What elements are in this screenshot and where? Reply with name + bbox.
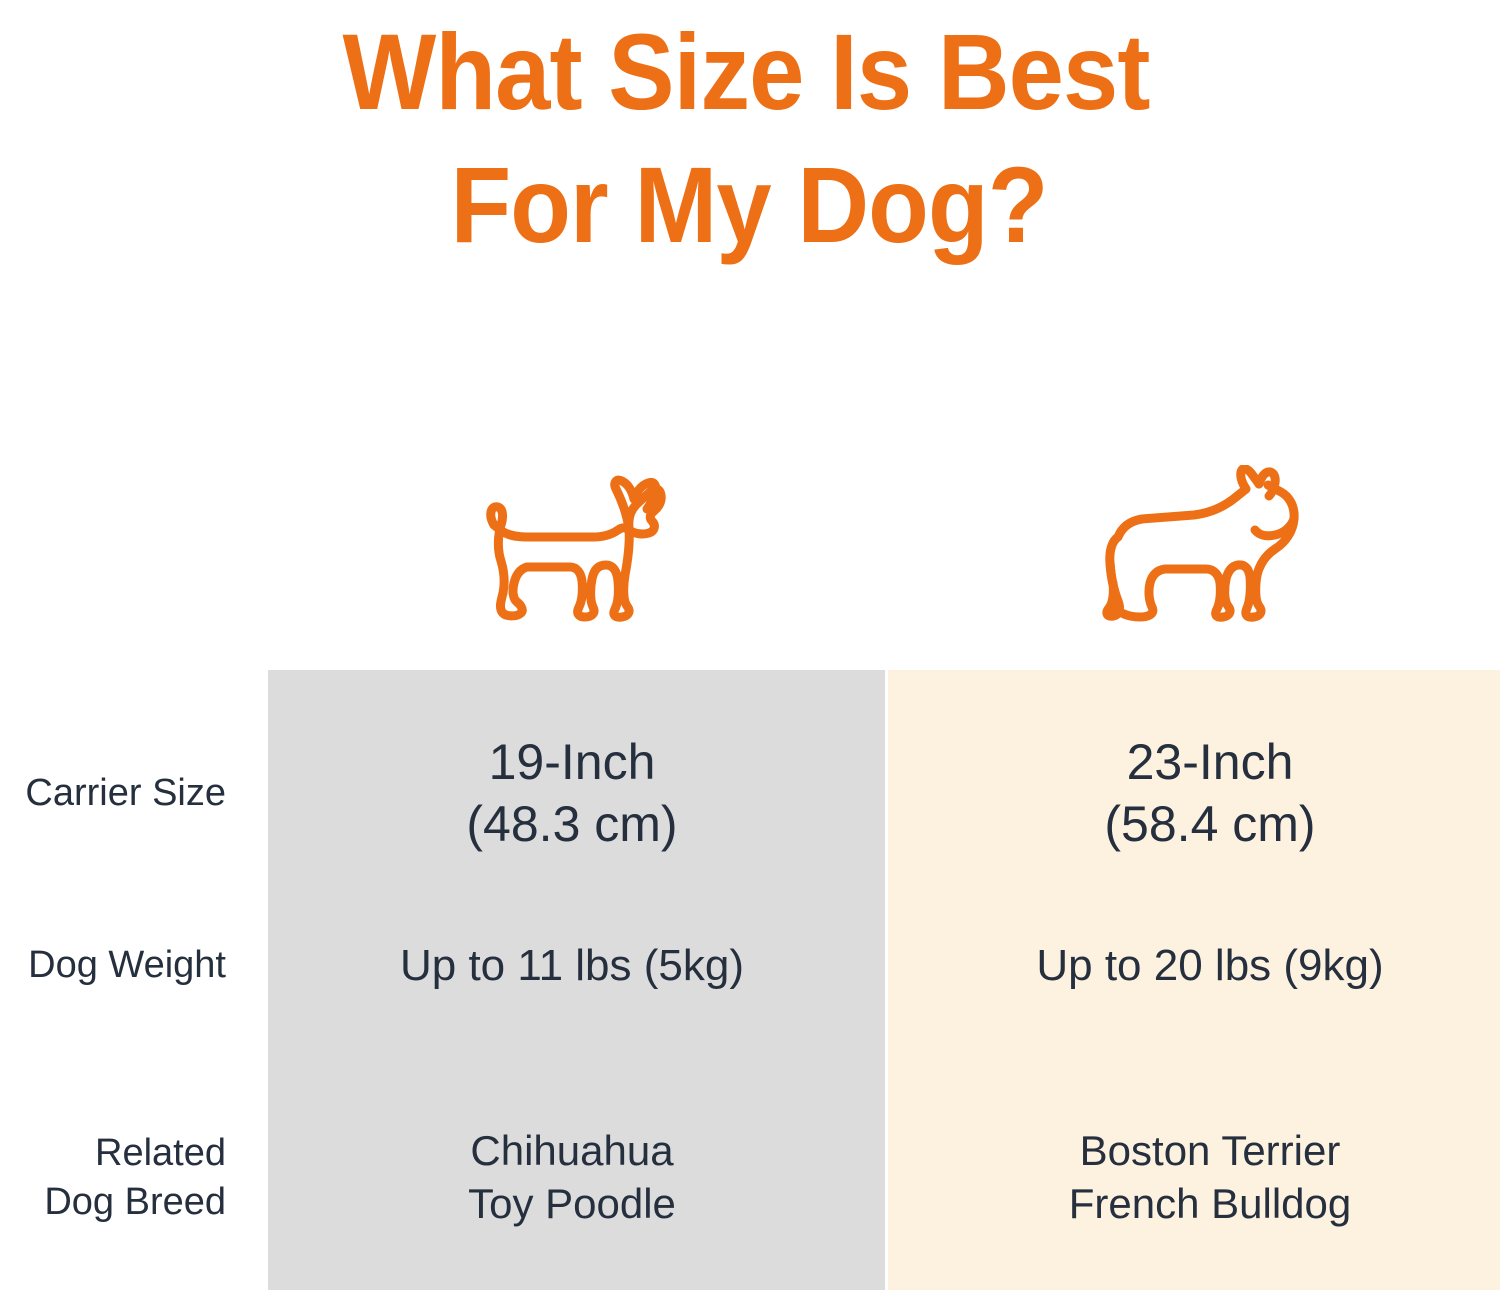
breed-large-line-2: French Bulldog (920, 1178, 1500, 1231)
cell-related-breed-large: Boston Terrier French Bulldog (920, 1125, 1500, 1230)
dog-icons-row (0, 465, 1500, 665)
row-label-related-line-1: Related (0, 1129, 226, 1178)
cell-dog-weight-large: Up to 20 lbs (9kg) (920, 938, 1500, 993)
cell-dog-weight-small: Up to 11 lbs (5kg) (242, 938, 902, 993)
chihuahua-dog-icon (455, 465, 695, 640)
table-row: Dog Weight Up to 11 lbs (5kg) Up to 20 l… (0, 915, 1500, 1015)
cell-carrier-size-small: 19-Inch (48.3 cm) (242, 731, 902, 856)
row-label-dog-weight: Dog Weight (0, 941, 226, 990)
cell-carrier-size-large: 23-Inch (58.4 cm) (920, 731, 1500, 856)
row-label-related-line-2: Dog Breed (0, 1178, 226, 1227)
row-label-carrier-size: Carrier Size (0, 769, 226, 818)
breed-large-line-1: Boston Terrier (920, 1125, 1500, 1178)
carrier-size-cm-small: (48.3 cm) (242, 793, 902, 856)
page-title-line-1: What Size Is Best (52, 6, 1439, 139)
row-label-related-dog-breed: Related Dog Breed (0, 1129, 226, 1226)
comparison-table: Carrier Size 19-Inch (48.3 cm) 23-Inch (… (0, 670, 1500, 1290)
carrier-size-cm-large: (58.4 cm) (920, 793, 1500, 856)
page-title: What Size Is Best For My Dog? (0, 0, 1500, 272)
french-bulldog-dog-icon (1075, 465, 1335, 640)
cell-related-breed-small: Chihuahua Toy Poodle (242, 1125, 902, 1230)
table-row: Carrier Size 19-Inch (48.3 cm) 23-Inch (… (0, 718, 1500, 868)
breed-small-line-1: Chihuahua (242, 1125, 902, 1178)
table-row: Related Dog Breed Chihuahua Toy Poodle B… (0, 1110, 1500, 1245)
carrier-size-inches-small: 19-Inch (242, 731, 902, 794)
page-title-line-2: For My Dog? (58, 139, 1440, 272)
breed-small-line-2: Toy Poodle (242, 1178, 902, 1231)
carrier-size-inches-large: 23-Inch (920, 731, 1500, 794)
